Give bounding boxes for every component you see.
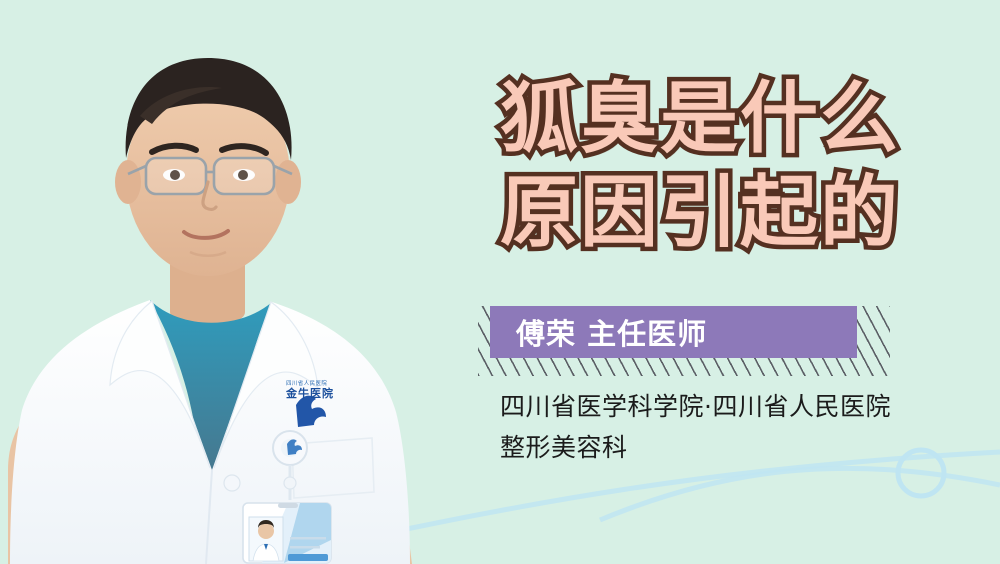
affiliation-line-1: 四川省医学科学院·四川省人民医院 <box>500 386 980 427</box>
id-badge-line-1 <box>290 537 326 540</box>
doctor-name-title: 傅荣 主任医师 <box>490 311 707 353</box>
poster-canvas: 四川省人民医院 金牛医院 狐臭是什么 原因引起的 傅荣 主任医师 四川省医学科学… <box>0 0 1000 564</box>
id-badge-footer <box>288 554 328 561</box>
id-badge-line-2 <box>290 546 320 549</box>
doctor-affiliation: 四川省医学科学院·四川省人民医院 整形美容科 <box>500 386 980 468</box>
title-line-1: 狐臭是什么 <box>440 72 960 166</box>
id-badge-slot <box>278 503 298 508</box>
affiliation-line-2: 整形美容科 <box>500 427 980 468</box>
decor-curve-upper <box>600 468 1000 520</box>
doctor-name-banner: 傅荣 主任医师 <box>490 306 857 358</box>
badge-clip <box>284 477 296 489</box>
id-badge-face <box>258 523 274 539</box>
title-line-2: 原因引起的 <box>440 166 960 260</box>
ear-right <box>275 160 301 204</box>
ear-left <box>115 160 141 204</box>
poster-title: 狐臭是什么 原因引起的 <box>440 72 960 260</box>
doctor-portrait <box>0 0 430 564</box>
coat-button <box>224 475 240 491</box>
